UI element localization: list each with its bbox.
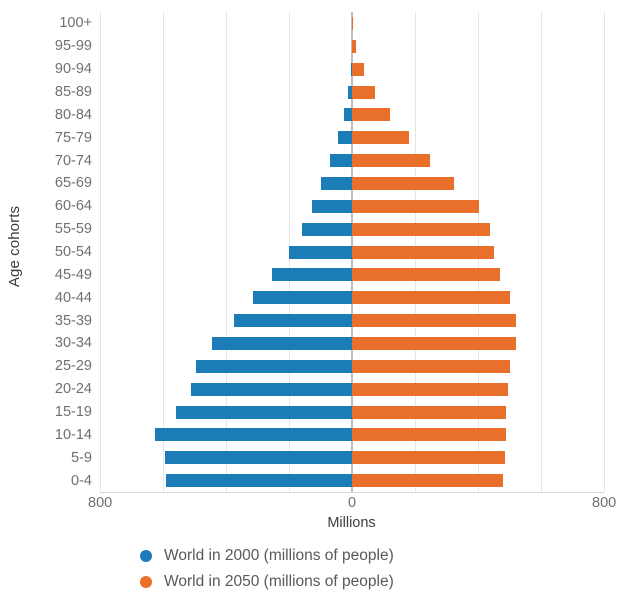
bar-series-container	[100, 12, 604, 492]
y-axis-title: Age cohorts	[0, 0, 30, 492]
legend-marker-circle-icon	[140, 550, 152, 562]
y-axis-tick-label: 85-89	[55, 85, 92, 99]
bar-row	[100, 406, 604, 419]
legend-item-label: World in 2050 (millions of people)	[164, 573, 394, 591]
bar-2050	[352, 428, 506, 441]
bar-2050	[352, 131, 409, 144]
y-axis-title-text: Age cohorts	[7, 205, 24, 286]
y-axis-tick-label: 0-4	[71, 474, 92, 488]
y-axis-tick-label: 65-69	[55, 176, 92, 190]
bar-2000	[176, 406, 352, 419]
y-axis-tick-label: 70-74	[55, 154, 92, 168]
y-axis-tick-label: 20-24	[55, 382, 92, 396]
bar-row	[100, 40, 604, 53]
gridline	[604, 12, 605, 492]
x-axis-tick-center: 0	[348, 495, 356, 511]
legend-item[interactable]: World in 2000 (millions of people)	[0, 543, 623, 569]
bar-2050	[352, 314, 516, 327]
bar-row	[100, 474, 604, 487]
bar-row	[100, 337, 604, 350]
legend-item-label: World in 2000 (millions of people)	[164, 547, 394, 565]
bar-row	[100, 154, 604, 167]
y-axis-tick-label: 90-94	[55, 62, 92, 76]
y-axis-tick-labels: 100+95-9990-9485-8980-8475-7970-7465-696…	[30, 12, 98, 492]
legend-marker-circle-icon	[140, 576, 152, 588]
bar-2000	[289, 246, 352, 259]
bar-2000	[302, 223, 352, 236]
bar-2050	[352, 17, 353, 30]
y-axis-tick-label: 25-29	[55, 359, 92, 373]
bar-row	[100, 428, 604, 441]
bar-2000	[165, 451, 352, 464]
bar-2050	[352, 86, 375, 99]
bar-row	[100, 17, 604, 30]
y-axis-tick-label: 60-64	[55, 199, 92, 213]
chart-legend: World in 2000 (millions of people)World …	[0, 543, 623, 595]
bar-row	[100, 108, 604, 121]
bar-row	[100, 223, 604, 236]
y-axis-tick-label: 15-19	[55, 405, 92, 419]
y-axis-tick-label: 10-14	[55, 428, 92, 442]
plot-area	[100, 12, 604, 492]
bar-2050	[352, 108, 390, 121]
bar-2000	[321, 177, 352, 190]
bar-2000	[312, 200, 352, 213]
legend-item[interactable]: World in 2050 (millions of people)	[0, 569, 623, 595]
y-axis-tick-label: 55-59	[55, 222, 92, 236]
bar-row	[100, 383, 604, 396]
bar-2000	[330, 154, 352, 167]
bar-row	[100, 200, 604, 213]
y-axis-tick-label: 95-99	[55, 39, 92, 53]
x-axis-title: Millions	[0, 515, 623, 531]
x-axis-title-text: Millions	[247, 515, 375, 531]
bar-2000	[272, 268, 352, 281]
bar-2000	[344, 108, 352, 121]
y-axis-tick-label: 40-44	[55, 291, 92, 305]
bar-2050	[352, 246, 494, 259]
bar-2050	[352, 406, 506, 419]
bar-2000	[338, 131, 352, 144]
y-axis-tick-label: 45-49	[55, 268, 92, 282]
bar-2050	[352, 383, 508, 396]
bar-row	[100, 246, 604, 259]
bar-2050	[352, 154, 430, 167]
bar-2050	[352, 63, 364, 76]
bar-row	[100, 86, 604, 99]
bar-row	[100, 451, 604, 464]
bar-row	[100, 360, 604, 373]
bar-row	[100, 63, 604, 76]
bar-2000	[196, 360, 352, 373]
y-axis-tick-label: 50-54	[55, 245, 92, 259]
bar-2050	[352, 291, 510, 304]
bar-2000	[166, 474, 352, 487]
bar-2050	[352, 337, 516, 350]
y-axis-tick-label: 80-84	[55, 108, 92, 122]
bar-row	[100, 177, 604, 190]
bar-2050	[352, 200, 479, 213]
bar-2000	[212, 337, 352, 350]
y-axis-tick-label: 30-34	[55, 336, 92, 350]
bar-2050	[352, 474, 503, 487]
population-pyramid-chart: Age cohorts 100+95-9990-9485-8980-8475-7…	[0, 0, 623, 601]
bar-2050	[352, 177, 454, 190]
bar-2050	[352, 223, 490, 236]
y-axis-tick-label: 5-9	[71, 451, 92, 465]
bar-row	[100, 291, 604, 304]
x-axis-tick-left: 800	[88, 495, 112, 511]
bar-2000	[253, 291, 352, 304]
bar-2000	[191, 383, 352, 396]
bar-2000	[155, 428, 352, 441]
bar-2000	[234, 314, 352, 327]
y-axis-tick-label: 75-79	[55, 131, 92, 145]
bar-2050	[352, 451, 505, 464]
bar-2050	[352, 40, 356, 53]
x-axis-tick-right: 800	[592, 495, 616, 511]
bar-2050	[352, 360, 510, 373]
bar-row	[100, 268, 604, 281]
x-axis-line	[100, 492, 604, 493]
y-axis-tick-label: 35-39	[55, 314, 92, 328]
bar-2050	[352, 268, 500, 281]
y-axis-tick-label: 100+	[59, 16, 92, 30]
bar-row	[100, 131, 604, 144]
bar-row	[100, 314, 604, 327]
